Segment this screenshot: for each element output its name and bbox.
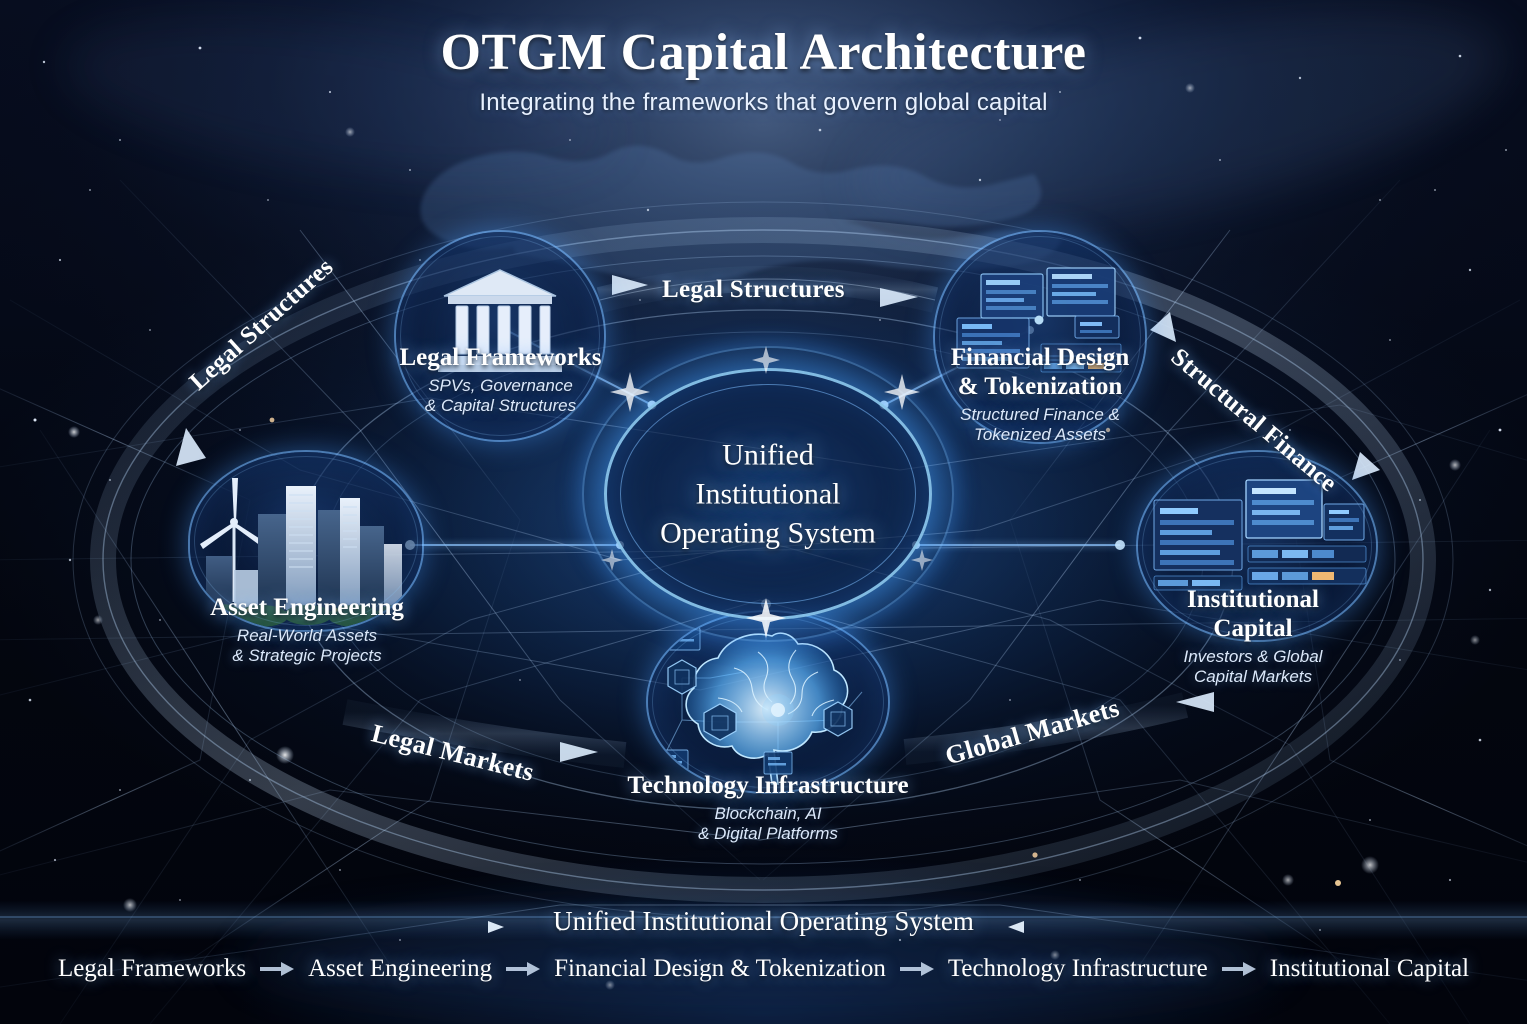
infographic-canvas: OTGM Capital Architecture Integrating th… [0,0,1527,1024]
technology-infrastructure-label: Technology Infrastructure Blockchain, AI… [608,772,928,845]
institutional-capital-label: Institutional Capital Investors & Global… [1113,586,1393,688]
institutional-capital-subtitle: Investors & Global Capital Markets [1113,647,1393,688]
legal-frameworks-title: Legal Frameworks [361,344,641,373]
asset-engineering-title: Asset Engineering [167,594,447,623]
financial-design-title: Financial Design & Tokenization [900,344,1180,402]
node-technology-infrastructure[interactable]: Technology Infrastructure Blockchain, AI… [608,612,928,862]
node-legal-frameworks[interactable]: Legal Frameworks SPVs, Governance & Capi… [388,232,613,432]
institutional-capital-title: Institutional Capital [1113,586,1393,644]
node-asset-engineering[interactable]: Asset Engineering Real-World Assets & St… [182,452,432,672]
flow-arrow-icon [900,961,934,977]
node-financial-design[interactable]: Financial Design & Tokenization Structur… [925,232,1155,442]
asset-engineering-subtitle: Real-World Assets & Strategic Projects [167,626,447,667]
technology-infrastructure-title: Technology Infrastructure [608,772,928,801]
flow-sequence: Legal Frameworks Asset Engineering Finan… [0,955,1527,983]
legal-frameworks-label: Legal Frameworks SPVs, Governance & Capi… [361,344,641,417]
legal-frameworks-subtitle: SPVs, Governance & Capital Structures [361,376,641,417]
flow-item-asset-engineering[interactable]: Asset Engineering [308,955,492,983]
flow-item-legal-frameworks[interactable]: Legal Frameworks [58,955,246,983]
hub-label: Unified Institutional Operating System [604,436,932,553]
page-title: OTGM Capital Architecture [0,26,1527,81]
hub-unified-operating-system[interactable]: Unified Institutional Operating System [604,368,932,620]
arc-label-right-lower: Global Markets [942,693,1123,771]
arc-label-left-upper: Legal Structures [185,253,340,396]
node-institutional-capital[interactable]: Institutional Capital Investors & Global… [1128,452,1378,682]
flow-item-institutional-capital[interactable]: Institutional Capital [1270,955,1469,983]
arc-label-left-lower: Legal Markets [368,718,537,787]
flow-arrow-icon [506,961,540,977]
flow-arrow-icon [1222,961,1256,977]
arc-label-top: Legal Structures [662,276,845,304]
flow-item-financial-design[interactable]: Financial Design & Tokenization [554,955,886,983]
brain-glyph [686,633,847,784]
flow-item-technology-infrastructure[interactable]: Technology Infrastructure [948,955,1208,983]
financial-design-label: Financial Design & Tokenization Structur… [900,344,1180,446]
summary-label: Unified Institutional Operating System [553,906,974,937]
technology-infrastructure-subtitle: Blockchain, AI & Digital Platforms [608,804,928,845]
page-subtitle: Integrating the frameworks that govern g… [0,89,1527,117]
header: OTGM Capital Architecture Integrating th… [0,26,1527,117]
financial-design-subtitle: Structured Finance & Tokenized Assets [900,405,1180,446]
asset-engineering-label: Asset Engineering Real-World Assets & St… [167,594,447,667]
summary-banner: Unified Institutional Operating System [0,906,1527,937]
blockchain-hexes [668,660,852,740]
flow-arrow-icon [260,961,294,977]
